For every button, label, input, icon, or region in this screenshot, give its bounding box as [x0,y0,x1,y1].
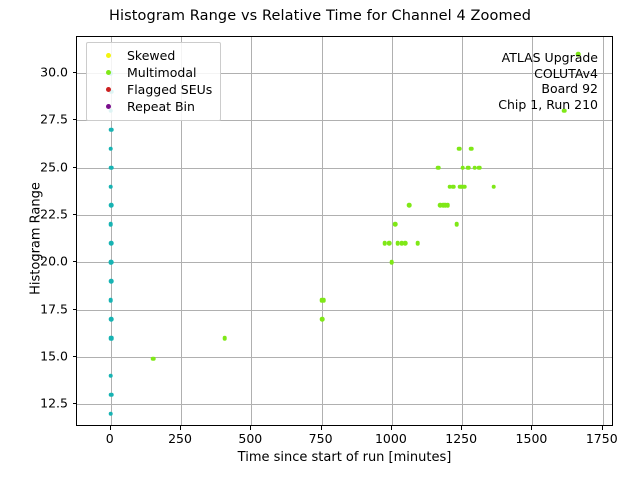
data-point [451,184,456,189]
y-axis-label: Histogram Range [29,124,44,354]
y-tick-mark [73,119,77,120]
data-point [108,146,113,151]
data-point [466,165,471,170]
data-point [407,203,412,208]
legend-marker-icon [93,70,123,75]
data-point [109,241,114,246]
legend[interactable]: SkewedMultimodalFlagged SEUsRepeat Bin [86,42,221,121]
gridline-horizontal [77,310,612,311]
x-tick-mark [110,426,111,430]
data-point [108,374,113,379]
data-point [151,357,156,362]
data-point [462,184,467,189]
data-point [445,203,450,208]
x-tick-mark [180,426,181,430]
x-tick-label: 750 [309,431,333,446]
annotation-line: ATLAS Upgrade [498,50,598,66]
legend-item-flagged-seus[interactable]: Flagged SEUs [93,81,212,98]
x-tick-mark [602,426,603,430]
data-point [108,184,113,189]
y-tick-mark [73,214,77,215]
data-point [460,165,465,170]
data-point [108,336,113,341]
y-tick-label: 12.5 [0,396,68,411]
data-point [222,336,227,341]
data-point [109,165,114,170]
data-point [454,222,459,227]
y-tick-mark [73,261,77,262]
data-point [109,393,114,398]
y-tick-mark [73,356,77,357]
gridline-vertical [462,37,463,425]
x-tick-label: 1000 [375,431,407,446]
y-tick-label: 30.0 [0,64,68,79]
legend-marker-icon [93,53,123,58]
y-tick-mark [73,309,77,310]
gridline-vertical [603,37,604,425]
gridline-horizontal [77,168,612,169]
x-tick-label: 1750 [586,431,618,446]
page-title: Histogram Range vs Relative Time for Cha… [0,8,640,24]
x-axis-label: Time since start of run [minutes] [76,450,613,465]
annotation-line: Board 92 [498,81,598,97]
y-tick-mark [73,167,77,168]
data-point [108,411,113,416]
legend-item-label: Skewed [123,48,175,63]
data-point [320,317,325,322]
data-point [387,241,392,246]
x-tick-mark [391,426,392,430]
gridline-horizontal [77,262,612,263]
data-point [393,222,398,227]
data-point [477,165,482,170]
y-tick-mark [73,72,77,73]
x-tick-mark [531,426,532,430]
x-tick-label: 1500 [516,431,548,446]
data-point [109,279,114,284]
x-tick-label: 1250 [445,431,477,446]
scatter-plot-figure: Histogram Range vs Relative Time for Cha… [0,0,640,480]
legend-item-multimodal[interactable]: Multimodal [93,64,212,81]
data-point [491,184,496,189]
data-point [108,222,113,227]
data-point [390,260,395,265]
data-point [109,203,114,208]
annotation-line: Chip 1, Run 210 [498,97,598,113]
gridline-horizontal [77,357,612,358]
data-point [109,317,114,322]
x-tick-label: 500 [238,431,262,446]
gridline-horizontal [77,215,612,216]
data-point [436,165,441,170]
annotation-text: ATLAS UpgradeCOLUTAv4Board 92Chip 1, Run… [498,50,598,112]
legend-item-label: Multimodal [123,65,196,80]
x-tick-label: 0 [106,431,114,446]
data-point [108,298,113,303]
gridline-vertical [322,37,323,425]
gridline-vertical [392,37,393,425]
x-tick-mark [250,426,251,430]
legend-item-label: Repeat Bin [123,99,195,114]
legend-marker-icon [93,104,123,109]
annotation-line: COLUTAv4 [498,66,598,82]
legend-item-label: Flagged SEUs [123,82,212,97]
data-point [469,146,474,151]
data-point [109,260,114,265]
data-point [109,127,114,132]
data-point [403,241,408,246]
legend-item-skewed[interactable]: Skewed [93,47,212,64]
legend-marker-icon [93,87,123,92]
legend-item-repeat-bin[interactable]: Repeat Bin [93,98,212,115]
y-tick-mark [73,403,77,404]
gridline-horizontal [77,404,612,405]
gridline-vertical [251,37,252,425]
x-tick-mark [461,426,462,430]
x-tick-label: 250 [168,431,192,446]
data-point [457,146,462,151]
data-point [415,241,420,246]
data-point [321,298,326,303]
x-tick-mark [321,426,322,430]
